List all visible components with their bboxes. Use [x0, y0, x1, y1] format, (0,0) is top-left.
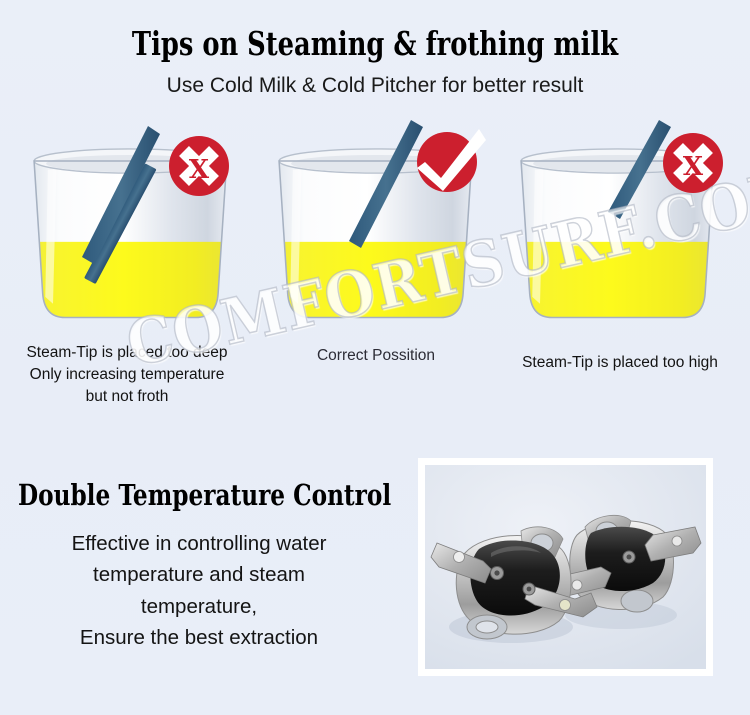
product-photo-frame [418, 458, 713, 676]
page-subtitle: Use Cold Milk & Cold Pitcher for better … [0, 74, 750, 98]
caption-pitcher-too-high: Steam-Tip is placed too high [495, 352, 745, 374]
product-photo [425, 465, 706, 669]
page-title: Tips on Steaming & frothing milk [83, 24, 668, 63]
section-title-double-temperature-control: Double Temperature Control [18, 478, 391, 512]
milk-region-1 [27, 242, 242, 337]
pitcher-too-deep-graphic: X [10, 118, 260, 338]
svg-text:X: X [683, 152, 704, 182]
milk-region-2 [272, 242, 487, 337]
cross-badge-1: X [169, 136, 229, 196]
thermostat-switches-image [425, 465, 706, 669]
pitcher-illustration-row: X [0, 118, 750, 338]
promo-page: Tips on Steaming & frothing milk Use Col… [0, 0, 750, 715]
pitcher-too-high-graphic: X [497, 118, 747, 338]
check-badge-2 [417, 129, 486, 192]
caption-pitcher-too-deep: Steam-Tip is placed too deep Only increa… [8, 342, 246, 408]
figure-pitcher-correct [255, 118, 505, 338]
pitcher-correct-graphic [255, 118, 505, 338]
figure-pitcher-too-deep: X [10, 118, 260, 338]
milk-region-3 [514, 242, 729, 337]
figure-pitcher-too-high: X [497, 118, 747, 338]
caption-pitcher-correct: Correct Possition [258, 345, 494, 367]
section-body-double-temperature-control: Effective in controlling water temperatu… [14, 528, 384, 653]
svg-text:X: X [189, 155, 210, 185]
cross-badge-3: X [663, 133, 723, 193]
